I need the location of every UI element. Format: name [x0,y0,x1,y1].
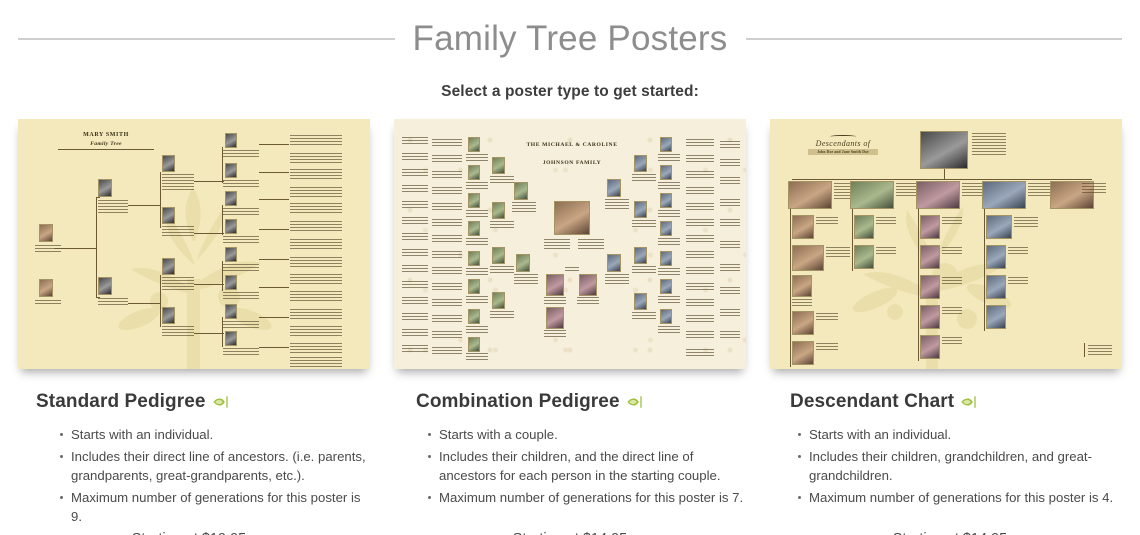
ancestor-photo-node [660,193,672,208]
pedigree-label [290,257,342,267]
ancestor-photo-node [660,251,672,266]
pedigree-label [605,274,629,284]
pedigree-photo-node [98,179,112,197]
pedigree-label [512,202,536,212]
pedigree-label [402,153,428,162]
descendant-photo-node [792,245,824,271]
descendant-label [1082,183,1106,195]
pedigree-label [432,251,462,260]
descendant-label [792,299,812,307]
pedigree-label [686,331,714,340]
descendant-photo-node [920,275,940,299]
ancestor-photo-node [634,155,647,172]
feature-item: Starts with an individual. [60,425,370,444]
pedigree-label [98,298,128,307]
child-photo-node [546,274,564,296]
pedigree-label [490,176,514,185]
descendant-label [1014,217,1038,229]
pedigree-label [466,268,488,276]
pedigree-label [432,219,462,228]
pedigree-label [402,313,428,322]
pedigree-label [544,297,566,306]
header-rule-left [18,38,395,40]
pedigree-label [544,330,566,337]
price-label-descendant-chart: Starting at $14.95 [778,531,1122,535]
ancestor-photo-node [492,157,505,174]
pedigree-label [223,208,259,217]
combination-pedigree-poster-preview[interactable]: The Michael & Caroline Johnson Family [394,119,746,369]
pedigree-label [720,177,740,186]
child-photo-node [579,274,597,296]
pedigree-label [432,155,462,164]
descendant-label [942,277,962,285]
ancestor-photo-node [492,202,505,219]
pedigree-label [223,150,259,159]
ancestor-photo-node [468,251,480,266]
pedigree-label [490,311,514,320]
ancestor-photo-node [468,309,480,324]
card-heading-descendant-chart: Descendant Chart [770,391,1122,413]
pedigree-label [223,348,259,357]
ancestor-photo-node [468,165,480,180]
descendant-label [942,307,962,315]
pedigree-label [98,200,128,213]
pedigree-label [720,331,740,340]
pedigree-label [290,153,342,163]
pedigree-label [162,326,194,338]
pedigree-label [686,251,714,260]
pedigree-label [162,174,194,190]
pedigree-label [162,226,194,238]
descendant-label [826,247,850,259]
descendant-photo-node [854,215,874,239]
pedigree-photo-node [225,247,237,262]
pedigree-label [290,291,342,301]
ancestor-photo-node [660,165,672,180]
pedigree-label [432,331,462,340]
ancestor-photo-node [660,137,672,152]
pedigree-label [290,169,342,179]
pedigree-label [686,171,714,180]
pedigree-label [402,249,428,258]
page-title: Family Tree Posters [395,22,746,56]
pedigree-label [162,277,194,291]
pedigree-label [686,235,714,244]
price-label-combination-pedigree: Starting at $14.95 [394,531,746,535]
standard-pedigree-poster-preview[interactable]: Mary Smith Family Tree [18,119,370,369]
pedigree-photo-node [39,279,53,297]
ancestor-photo-node [660,309,672,324]
pedigree-label [466,326,488,334]
poster-type-card-list: Mary Smith Family Tree [0,119,1140,535]
pedigree-label [402,265,428,274]
ancestor-photo-node [468,279,480,294]
descendant-label [816,217,838,225]
children-label [565,267,579,271]
feature-item: Maximum number of generations for this p… [60,488,370,526]
pedigree-label [432,347,462,356]
pedigree-label [432,139,462,148]
pedigree-label [686,267,714,276]
ancestor-photo-node [468,137,480,152]
feature-item: Includes their direct line of ancestors.… [60,447,370,485]
ancestor-photo-node [634,293,647,310]
poster-title-rule [58,149,154,150]
feature-list-combination-pedigree: Starts with a couple. Includes their chi… [394,425,746,507]
pedigree-label [514,274,538,284]
pedigree-label [290,239,342,249]
pedigree-label [686,315,714,324]
pedigree-label [290,203,342,213]
pedigree-label [490,266,514,275]
pedigree-label [466,182,488,190]
pedigree-label [290,309,342,319]
pedigree-photo-node [162,307,175,324]
pedigree-label [290,343,342,353]
pedigree-label [432,203,462,212]
pedigree-label [290,187,342,197]
pedigree-label [466,353,488,361]
descendant-photo-node [920,305,940,329]
pedigree-label [490,221,514,230]
pedigree-label [290,135,342,145]
descendant-label [942,337,962,345]
pedigree-label [720,219,740,228]
descendant-label [876,217,896,225]
descendant-photo-node [982,181,1026,209]
pedigree-label [658,296,680,304]
ancestor-photo-node [468,337,480,352]
pedigree-label [466,238,488,246]
pedigree-label [720,141,740,150]
pedigree-label [578,239,604,249]
leaf-arrow-icon[interactable] [212,393,230,411]
ancestor-photo-node [468,221,480,236]
couple-photo-node [554,201,590,235]
pedigree-label [402,217,428,226]
pedigree-label [658,210,680,218]
pedigree-photo-node [225,304,237,319]
pedigree-label [223,292,259,301]
page-header: Family Tree Posters [0,22,1140,56]
pedigree-label [402,345,428,354]
descendant-label [816,313,838,321]
pedigree-photo-node [225,133,237,148]
poster-type-card-descendant-chart[interactable]: Descendants of John Doe and Jane Smith D… [770,119,1122,535]
descendant-label [1008,247,1028,255]
pedigree-photo-node [225,219,237,234]
pedigree-label [290,357,342,367]
descendant-label [1008,277,1028,285]
card-heading-label: Combination Pedigree [416,391,620,413]
ancestor-photo-node [634,247,647,264]
descendant-label [942,247,962,255]
header-rule-right [746,38,1123,40]
pedigree-photo-node [225,163,237,178]
pedigree-label [720,309,740,318]
ancestor-photo-node [514,182,528,200]
pedigree-label [466,154,488,162]
feature-list-descendant-chart: Starts with an individual. Includes thei… [770,425,1122,507]
pedigree-label [432,283,462,292]
page-subtitle: Select a poster type to get started: [0,83,1140,101]
poster-title-standard: Mary Smith Family Tree [58,131,154,150]
pedigree-label [466,210,488,218]
descendant-label [942,217,962,225]
descendant-chart-poster-preview[interactable]: Descendants of John Doe and Jane Smith D… [770,119,1122,369]
pedigree-label [686,349,714,358]
pedigree-label [432,315,462,324]
pedigree-label [632,174,656,183]
poster-type-card-standard-pedigree[interactable]: Mary Smith Family Tree [18,119,370,535]
pedigree-label [402,233,428,242]
card-heading-standard-pedigree: Standard Pedigree [18,391,370,413]
pedigree-label [686,187,714,196]
pedigree-label [632,312,656,321]
pedigree-label [402,185,428,194]
descendant-photo-node [792,215,814,239]
ancestor-photo-node [492,247,505,264]
pedigree-label [432,267,462,276]
feature-item: Includes their children, grandchildren, … [798,447,1122,485]
ancestor-photo-node [660,279,672,294]
ancestor-photo-node [660,221,672,236]
pedigree-label [686,155,714,164]
pedigree-label [720,264,740,273]
pedigree-label [290,221,342,231]
card-heading-label: Descendant Chart [790,391,954,413]
pedigree-label [658,326,680,334]
pedigree-label [223,236,259,245]
descendant-photo-node [986,305,1006,329]
pedigree-label [432,187,462,196]
pedigree-label [402,137,428,146]
feature-item: Includes their children, and the direct … [428,447,746,485]
descendant-photo-node [788,181,832,209]
descendant-photo-node [854,245,874,269]
pedigree-label [720,199,740,208]
descendant-photo-node [792,341,814,365]
pedigree-label [402,281,428,290]
ancestor-photo-node [492,292,505,309]
pedigree-label [720,241,740,250]
root-couple-photo-node [920,131,968,169]
pedigree-label [402,169,428,178]
poster-credit [1088,345,1112,355]
pedigree-label [290,274,342,284]
descendant-photo-node [920,215,940,239]
pedigree-label [658,268,680,276]
feature-item: Maximum number of generations for this p… [428,488,746,507]
pedigree-label [686,139,714,148]
pedigree-photo-node [162,258,175,275]
pedigree-photo-node [39,224,53,242]
feature-item: Starts with an individual. [798,425,1122,444]
leaf-arrow-icon[interactable] [626,393,644,411]
feature-item: Starts with a couple. [428,425,746,444]
pedigree-label [35,245,61,254]
feature-item: Maximum number of generations for this p… [798,488,1122,507]
pedigree-photo-node [162,207,175,224]
card-heading-label: Standard Pedigree [36,391,206,413]
pedigree-label [720,159,740,168]
ancestor-photo-node [516,254,530,272]
pedigree-photo-node [162,155,175,172]
pedigree-label [686,299,714,308]
ancestor-photo-node [634,201,647,218]
pedigree-label [686,203,714,212]
pedigree-photo-node [98,277,112,295]
price-label-standard-pedigree: Starting at $19.95 [8,531,370,535]
descendant-photo-node [986,275,1006,299]
descendant-photo-node [792,311,814,335]
leaf-arrow-icon[interactable] [960,393,978,411]
descendant-photo-node [986,215,1012,239]
pedigree-label [432,299,462,308]
descendant-photo-node [916,181,960,209]
pedigree-label [686,283,714,292]
poster-title-combination: The Michael & Caroline Johnson Family [512,141,632,167]
descendant-photo-node [920,245,940,269]
flourish-ornament [830,135,856,138]
pedigree-label [658,238,680,246]
pedigree-label [223,321,259,330]
pedigree-label [402,329,428,338]
pedigree-label [605,199,629,209]
descendant-label [972,133,1006,157]
poster-title-descendant: Descendants of John Doe and Jane Smith D… [808,135,878,155]
pedigree-label [544,239,570,251]
descendant-photo-node [920,335,940,359]
card-heading-combination-pedigree: Combination Pedigree [394,391,746,413]
pedigree-label [658,182,680,190]
child-photo-node [546,307,564,329]
pedigree-label [577,297,599,306]
pedigree-label [223,264,259,273]
descendant-photo-node [792,275,812,297]
poster-type-card-combination-pedigree[interactable]: The Michael & Caroline Johnson Family [394,119,746,535]
pedigree-label [720,287,740,296]
pedigree-label [432,171,462,180]
pedigree-photo-node [225,191,237,206]
ancestor-photo-node [607,254,621,272]
descendant-photo-node [986,245,1006,269]
pedigree-label [466,296,488,304]
pedigree-label [35,300,61,306]
pedigree-label [632,266,656,275]
descendant-label [876,247,896,255]
feature-list-standard-pedigree: Starts with an individual. Includes thei… [18,425,370,526]
descendant-label [816,343,838,351]
pedigree-photo-node [225,275,237,290]
pedigree-label [432,235,462,244]
pedigree-photo-node [225,331,237,346]
ancestor-photo-node [468,193,480,208]
pedigree-label [686,219,714,228]
descendant-photo-node [850,181,894,209]
pedigree-label [658,154,680,162]
pedigree-label [402,297,428,306]
pedigree-label [223,180,259,189]
pedigree-label [402,201,428,210]
pedigree-label [632,220,656,229]
pedigree-label [290,326,342,336]
ancestor-photo-node [607,179,621,197]
